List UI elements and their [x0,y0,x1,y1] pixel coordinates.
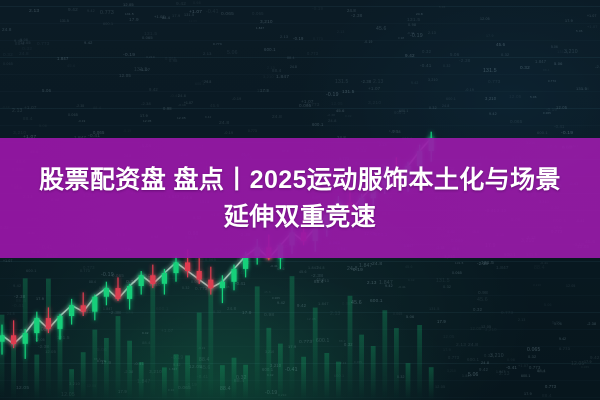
title-line-1: 股票配资盘 盘点丨2025运动服饰本土化与场景 [39,165,561,195]
title-line-2: 延伸双重竞速 [224,202,376,232]
banner-title: 股票配资盘 盘点丨2025运动服饰本土化与场景 延伸双重竞速 [0,138,600,258]
banner-image: -2.380.3212.05600.10.7733,2109.4288.4-0.… [0,0,600,400]
